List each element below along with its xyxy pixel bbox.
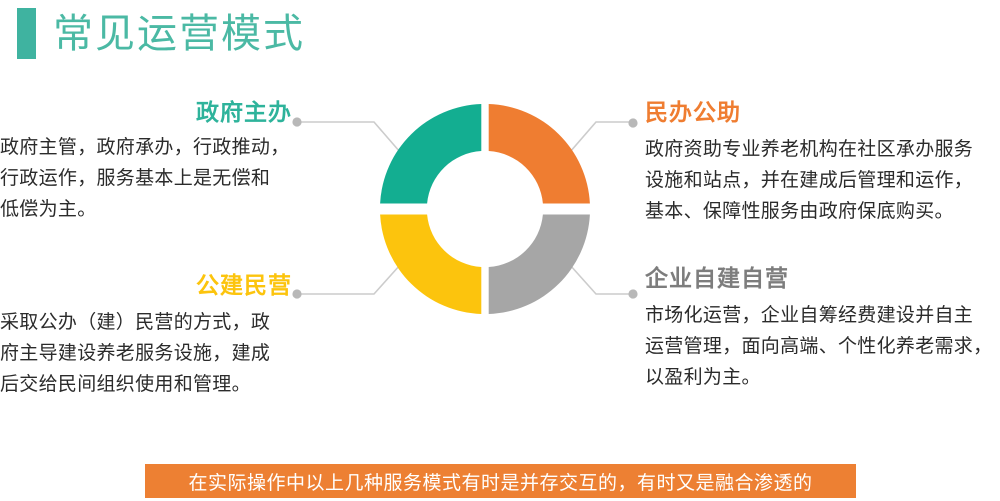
- connector-dot-bottom-left: [292, 289, 301, 298]
- donut-segment-government-run[interactable]: [380, 104, 481, 204]
- quadrant-top-left: 政府主办 政府主管，政府承办，行政推动， 行政运作，服务基本上是无偿和 低偿为主…: [0, 100, 292, 226]
- body-line: 行政运作，服务基本上是无偿和: [0, 164, 292, 195]
- quadrant-bottom-left-heading: 公建民营: [0, 273, 292, 298]
- quadrant-top-left-body: 政府主管，政府承办，行政推动， 行政运作，服务基本上是无偿和 低偿为主。: [0, 133, 292, 225]
- donut-segment-enterprise-self-built-self-run[interactable]: [489, 215, 590, 315]
- body-line: 设施和站点，并在建成后管理和运作，: [645, 166, 995, 197]
- quadrant-donut-chart: [372, 97, 598, 323]
- quadrant-top-right: 民办公助 政府资助专业养老机构在社区承办服务 设施和站点，并在建成后管理和运作，…: [645, 100, 995, 228]
- page-title-text: 常见运营模式: [53, 14, 305, 54]
- footer-banner: 在实际操作中以上几种服务模式有时是并存交互的，有时又是融合渗透的: [145, 464, 856, 498]
- body-line: 基本、保障性服务由政府保底购买。: [645, 197, 995, 228]
- quadrant-bottom-right: 企业自建自营 市场化运营，企业自筹经费建设并自主 运营管理，面向高端、个性化养老…: [645, 266, 995, 394]
- body-line: 采取公办（建）民营的方式，政: [0, 308, 292, 339]
- connector-dot-top-left: [292, 117, 301, 126]
- footer-banner-text: 在实际操作中以上几种服务模式有时是并存交互的，有时又是融合渗透的: [188, 468, 812, 495]
- connector-dot-top-right: [628, 118, 637, 127]
- body-line: 政府主管，政府承办，行政推动，: [0, 133, 292, 164]
- body-line: 运营管理，面向高端、个性化养老需求，: [645, 332, 995, 363]
- body-line: 市场化运营，企业自筹经费建设并自主: [645, 301, 995, 332]
- quadrant-bottom-left-body: 采取公办（建）民营的方式，政 府主导建设养老服务设施，建成 后交给民间组织使用和…: [0, 308, 292, 400]
- body-line: 以盈利为主。: [645, 363, 995, 394]
- quadrant-bottom-right-heading: 企业自建自营: [645, 266, 995, 291]
- title-accent-bar: [17, 8, 36, 59]
- body-line: 低偿为主。: [0, 195, 292, 226]
- quadrant-top-left-heading: 政府主办: [0, 100, 292, 125]
- page-title: 常见运营模式: [17, 8, 305, 59]
- donut-segment-private-run-public-aided[interactable]: [489, 104, 590, 204]
- body-line: 后交给民间组织使用和管理。: [0, 370, 292, 401]
- donut-segment-public-built-private-run[interactable]: [380, 215, 481, 315]
- quadrant-bottom-right-body: 市场化运营，企业自筹经费建设并自主 运营管理，面向高端、个性化养老需求， 以盈利…: [645, 301, 995, 393]
- body-line: 府主导建设养老服务设施，建成: [0, 339, 292, 370]
- connector-dot-bottom-right: [628, 289, 637, 298]
- infographic-canvas: 常见运营模式: [0, 0, 1000, 501]
- body-line: 政府资助专业养老机构在社区承办服务: [645, 135, 995, 166]
- quadrant-bottom-left: 公建民营 采取公办（建）民营的方式，政 府主导建设养老服务设施，建成 后交给民间…: [0, 273, 292, 401]
- quadrant-top-right-heading: 民办公助: [645, 100, 995, 125]
- quadrant-top-right-body: 政府资助专业养老机构在社区承办服务 设施和站点，并在建成后管理和运作， 基本、保…: [645, 135, 995, 227]
